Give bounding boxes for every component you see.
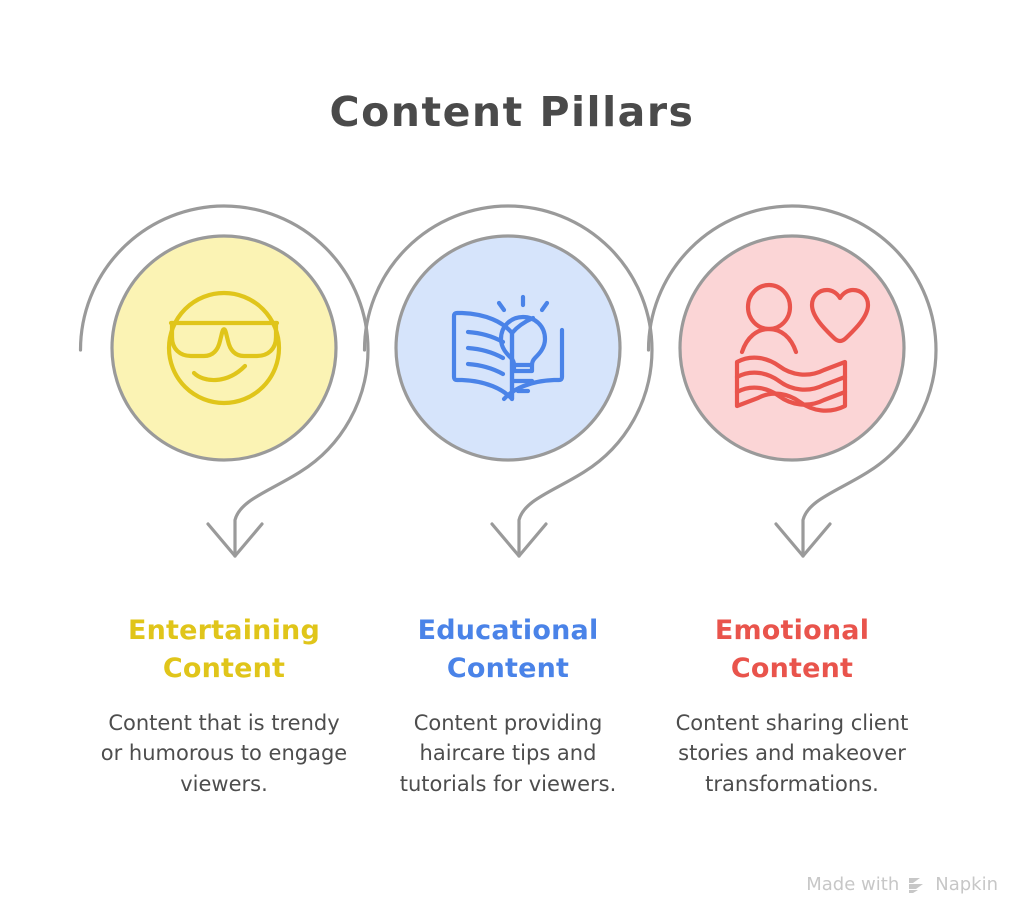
pillar-text-emotional: Emotional Content Content sharing client… xyxy=(667,612,917,800)
pillar-description: Content that is trendy or humorous to en… xyxy=(99,708,349,800)
pillar-group-entertaining[interactable] xyxy=(81,206,369,556)
pillar-description: Content providing haircare tips and tuto… xyxy=(383,708,633,800)
pillar-heading: Emotional Content xyxy=(667,612,917,689)
pillar-circle-educational[interactable] xyxy=(396,236,620,460)
pillar-heading: Educational Content xyxy=(383,612,633,689)
pillar-group-emotional[interactable] xyxy=(649,206,937,556)
pillar-circle-emotional[interactable] xyxy=(680,236,904,460)
watermark-prefix: Made with xyxy=(806,874,899,895)
diagram-canvas: Content Pillars xyxy=(0,0,1024,923)
napkin-watermark: Made with Napkin xyxy=(806,874,998,895)
pillar-text-entertaining: Entertaining Content Content that is tre… xyxy=(99,612,349,800)
pillar-heading: Entertaining Content xyxy=(99,612,349,689)
pillar-description: Content sharing client stories and makeo… xyxy=(667,708,917,800)
pillar-circle-entertaining[interactable] xyxy=(112,236,336,460)
napkin-chevrons-icon xyxy=(907,876,927,894)
pillar-group-educational[interactable] xyxy=(365,206,653,556)
pillar-text-educational: Educational Content Content providing ha… xyxy=(383,612,633,800)
watermark-brand: Napkin xyxy=(935,874,998,895)
